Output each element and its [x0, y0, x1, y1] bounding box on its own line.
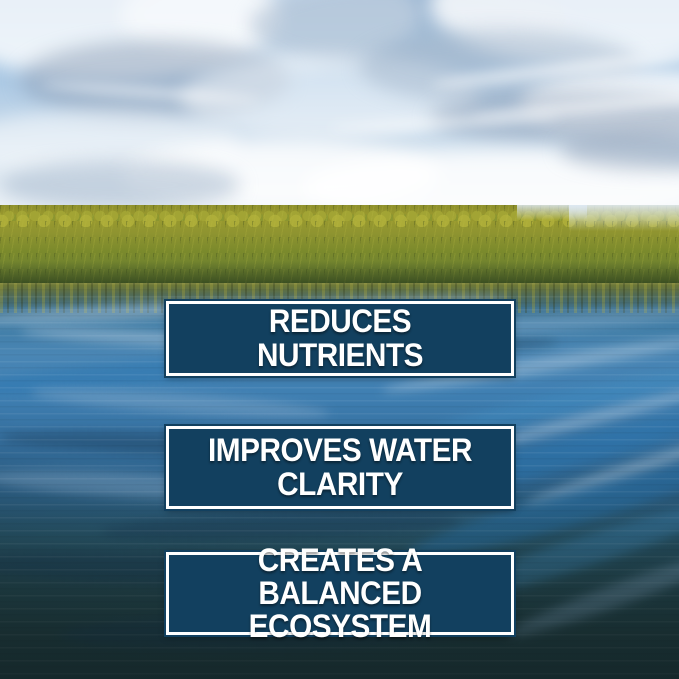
distant-shore-haze [517, 205, 587, 220]
product-benefit-graphic: REDUCES NUTRIENTS IMPROVES WATER CLARITY… [0, 0, 679, 679]
cloud-shape [0, 160, 240, 210]
benefit-plate-creates-balanced-ecosystem[interactable]: CREATES A BALANCED ECOSYSTEM [166, 552, 514, 635]
benefit-plate-label: REDUCES NUTRIENTS [181, 305, 499, 372]
sky-background [0, 0, 679, 216]
benefit-plate-improves-water-clarity[interactable]: IMPROVES WATER CLARITY [166, 426, 514, 509]
benefit-plate-label: CREATES A BALANCED ECOSYSTEM [181, 544, 499, 644]
benefit-plate-label: IMPROVES WATER CLARITY [202, 434, 477, 501]
forest-shoreline [0, 205, 679, 287]
benefit-plate-reduces-nutrients[interactable]: REDUCES NUTRIENTS [166, 301, 514, 376]
